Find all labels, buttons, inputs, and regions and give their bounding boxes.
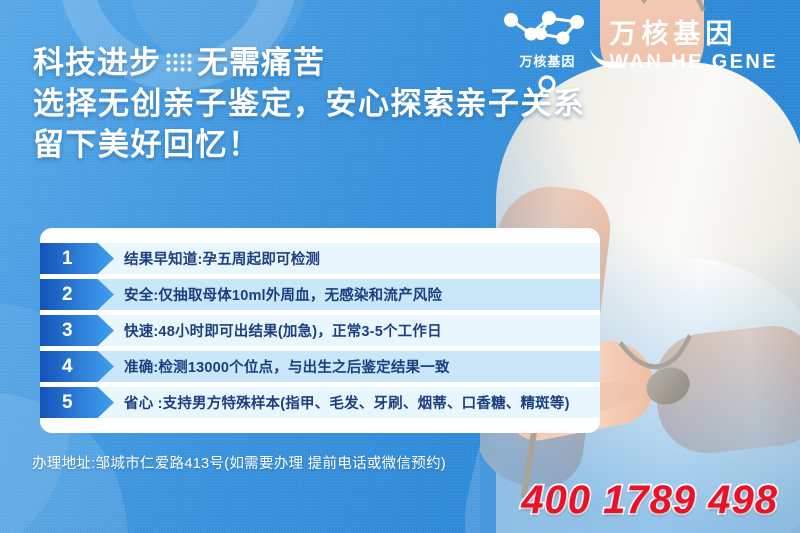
feature-number-2: 2: [62, 285, 73, 304]
hotline-phone-number[interactable]: 400 1789 498: [521, 478, 778, 523]
logo-mark-label: 万核基因: [519, 51, 575, 70]
promo-banner: 万核基因 万核基因 WAN HE GENE 科技进步 无需痛苦 选择无创亲子鉴定…: [0, 0, 800, 533]
feature-row-4: 4 准确:检测13000个位点，与出生之后鉴定结果一致: [40, 351, 760, 382]
headline-line-2: 选择无创亲子鉴定，安心探索亲子关系: [33, 83, 586, 124]
feature-list: 1 结果早知道:孕五周起即可检测 2 安全:仅抽取母体10ml外周血，无感染和流…: [40, 243, 760, 423]
logo-mark: 万核基因: [499, 8, 595, 84]
feature-number-3: 3: [62, 321, 73, 340]
logo-ring-icon: [535, 70, 559, 96]
logo-wordmark: 万核基因 WAN HE GENE: [609, 19, 778, 72]
logo-name-en: WAN HE GENE: [609, 51, 778, 73]
feature-row-1: 1 结果早知道:孕五周起即可检测: [40, 243, 760, 274]
logo-name-cn: 万核基因: [609, 19, 737, 49]
feature-number-1: 1: [62, 249, 73, 268]
feature-row-2: 2 安全:仅抽取母体10ml外周血，无感染和流产风险: [40, 279, 760, 310]
dot-separator-icon: [165, 52, 193, 74]
office-address: 办理地址:邹城市仁爱路413号(如需要办理 提前电话或微信预约): [32, 452, 446, 473]
brand-logo[interactable]: 万核基因 万核基因 WAN HE GENE: [499, 8, 778, 84]
feature-text-5: 省心 :支持男方特殊样本(指甲、毛发、牙刷、烟蒂、口香糖、精斑等): [124, 392, 570, 413]
headline-line-3: 留下美好回忆！: [33, 124, 586, 165]
feature-row-5: 5 省心 :支持男方特殊样本(指甲、毛发、牙刷、烟蒂、口香糖、精斑等): [40, 387, 760, 418]
feature-text-3: 快速:48小时即可出结果(加急)，正常3-5个工作日: [124, 320, 442, 341]
headline-line-1b: 无需痛苦: [197, 42, 325, 83]
dna-molecule-icon: [501, 8, 593, 54]
feature-text-1: 结果早知道:孕五周起即可检测: [124, 248, 320, 269]
feature-row-3: 3 快速:48小时即可出结果(加急)，正常3-5个工作日: [40, 315, 760, 346]
feature-number-5: 5: [62, 393, 73, 412]
headline-line-1a: 科技进步: [33, 42, 161, 83]
feature-number-4: 4: [62, 357, 73, 376]
feature-text-2: 安全:仅抽取母体10ml外周血，无感染和流产风险: [124, 284, 442, 305]
feature-text-4: 准确:检测13000个位点，与出生之后鉴定结果一致: [124, 356, 450, 377]
